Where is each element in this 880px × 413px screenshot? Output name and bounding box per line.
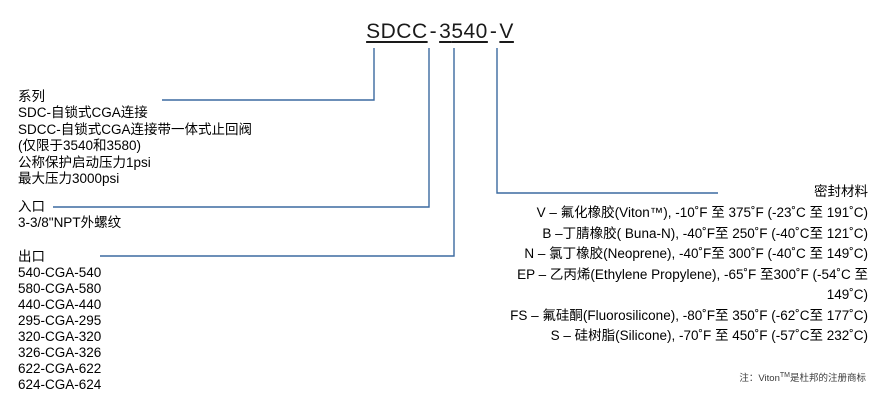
- series-row: SDC-自锁式CGA连接: [18, 105, 252, 122]
- outlet-row: 326-CGA-326: [18, 345, 101, 361]
- seal-material-row-continued: 149˚C): [398, 285, 868, 306]
- trademark-footnote: 注：VitonTM是杜邦的注册商标: [739, 370, 866, 385]
- product-code-breakdown-diagram: SDCC-3540-V 系列 SDC-自锁式CGA连接 SDCC-自锁式CGA连…: [0, 0, 880, 413]
- series-row: (仅限于3540和3580): [18, 138, 252, 155]
- outlet-row: 295-CGA-295: [18, 313, 101, 329]
- part-segment-seal: V: [499, 20, 514, 43]
- trademark-icon: TM: [780, 372, 790, 379]
- leader-line-seal-material: [497, 48, 718, 193]
- part-separator-2: -: [488, 20, 500, 43]
- part-segment-series: SDCC: [366, 20, 428, 43]
- inlet-row: 3-3/8"NPT外螺纹: [18, 215, 121, 232]
- inlet-heading: 入口: [18, 198, 121, 215]
- series-block: 系列 SDC-自锁式CGA连接 SDCC-自锁式CGA连接带一体式止回阀 (仅限…: [18, 88, 252, 188]
- part-segment-outlet: 540: [451, 20, 488, 43]
- outlet-row: 440-CGA-440: [18, 297, 101, 313]
- seal-material-row: FS – 氟硅酮(Fluorosilicone), -80˚F至 350˚F (…: [398, 306, 868, 327]
- series-row: 最大压力3000psi: [18, 171, 252, 188]
- seal-material-row: EP – 乙丙烯(Ethylene Propylene), -65˚F 至300…: [398, 265, 868, 286]
- part-segment-inlet: 3: [439, 20, 451, 43]
- outlet-row: 624-CGA-624: [18, 377, 101, 393]
- series-row: 公称保护启动压力1psi: [18, 155, 252, 172]
- outlet-row: 320-CGA-320: [18, 329, 101, 345]
- inlet-block: 入口 3-3/8"NPT外螺纹: [18, 198, 121, 232]
- outlet-row: 540-CGA-540: [18, 265, 101, 281]
- footnote-suffix: 是杜邦的注册商标: [790, 373, 866, 384]
- outlet-row: 622-CGA-622: [18, 361, 101, 377]
- seal-material-row: B –丁腈橡胶( Buna-N), -40˚F至 250˚F (-40˚C至 1…: [398, 224, 868, 245]
- seal-material-row: N – 氯丁橡胶(Neoprene), -40˚F至 300˚F (-40˚C …: [398, 244, 868, 265]
- footnote-prefix: 注：Viton: [739, 373, 779, 384]
- part-separator-1: -: [428, 20, 440, 43]
- seal-material-row: S – 硅树脂(Silicone), -70˚F 至 450˚F (-57˚C至…: [398, 326, 868, 347]
- series-heading: 系列: [18, 88, 252, 105]
- part-number-header: SDCC-3540-V: [0, 20, 880, 44]
- outlet-heading: 出口: [18, 248, 101, 265]
- seal-material-row: V – 氟化橡胶(Viton™), -10˚F 至 375˚F (-23˚C 至…: [398, 203, 868, 224]
- seal-material-list: V – 氟化橡胶(Viton™), -10˚F 至 375˚F (-23˚C 至…: [398, 203, 868, 347]
- outlet-block: 出口 540-CGA-540 580-CGA-580 440-CGA-440 2…: [18, 248, 101, 393]
- seal-material-heading: 密封材料: [814, 183, 868, 200]
- series-row: SDCC-自锁式CGA连接带一体式止回阀: [18, 122, 252, 139]
- outlet-row: 580-CGA-580: [18, 281, 101, 297]
